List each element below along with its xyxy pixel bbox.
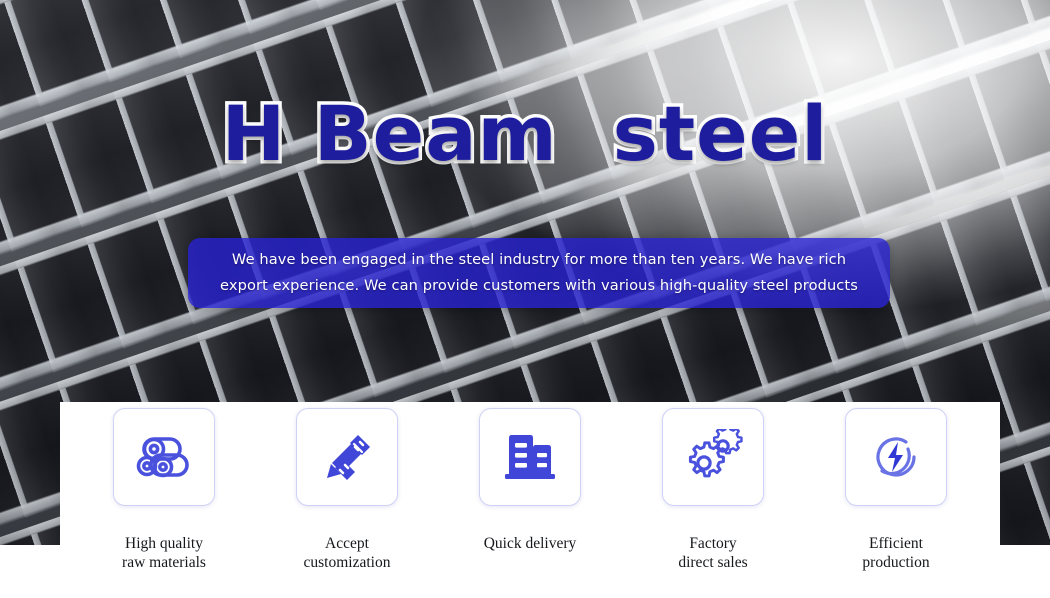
page-title: H Beam steel	[0, 96, 1050, 172]
gears-icon	[683, 429, 743, 485]
hero-description-banner: We have been engaged in the steel indust…	[188, 238, 890, 308]
icon-box	[662, 408, 764, 506]
icon-box	[296, 408, 398, 506]
lightning-circle-icon	[867, 429, 925, 485]
feature-item-high-quality-raw-materials[interactable]: High quality raw materials	[78, 402, 250, 572]
feature-item-quick-delivery[interactable]: Quick delivery	[444, 402, 616, 553]
feature-label: Accept customization	[304, 534, 391, 572]
hero-description-text: We have been engaged in the steel indust…	[206, 247, 872, 299]
features-row: High quality raw materials	[60, 402, 1000, 577]
pencil-ruler-icon	[318, 429, 376, 485]
feature-item-accept-customization[interactable]: Accept customization	[261, 402, 433, 572]
feature-label: High quality raw materials	[122, 534, 206, 572]
product-banner-page: H Beam steel We have been engaged in the…	[0, 0, 1050, 598]
feature-label: Efficient production	[862, 534, 929, 572]
feature-label: Factory direct sales	[678, 534, 747, 572]
feature-item-efficient-production[interactable]: Efficient production	[810, 402, 982, 572]
buildings-icon	[501, 431, 559, 483]
icon-box	[113, 408, 215, 506]
feature-label: Quick delivery	[484, 534, 577, 553]
icon-box	[479, 408, 581, 506]
steel-coils-icon	[134, 429, 194, 485]
feature-item-factory-direct-sales[interactable]: Factory direct sales	[627, 402, 799, 572]
icon-box	[845, 408, 947, 506]
